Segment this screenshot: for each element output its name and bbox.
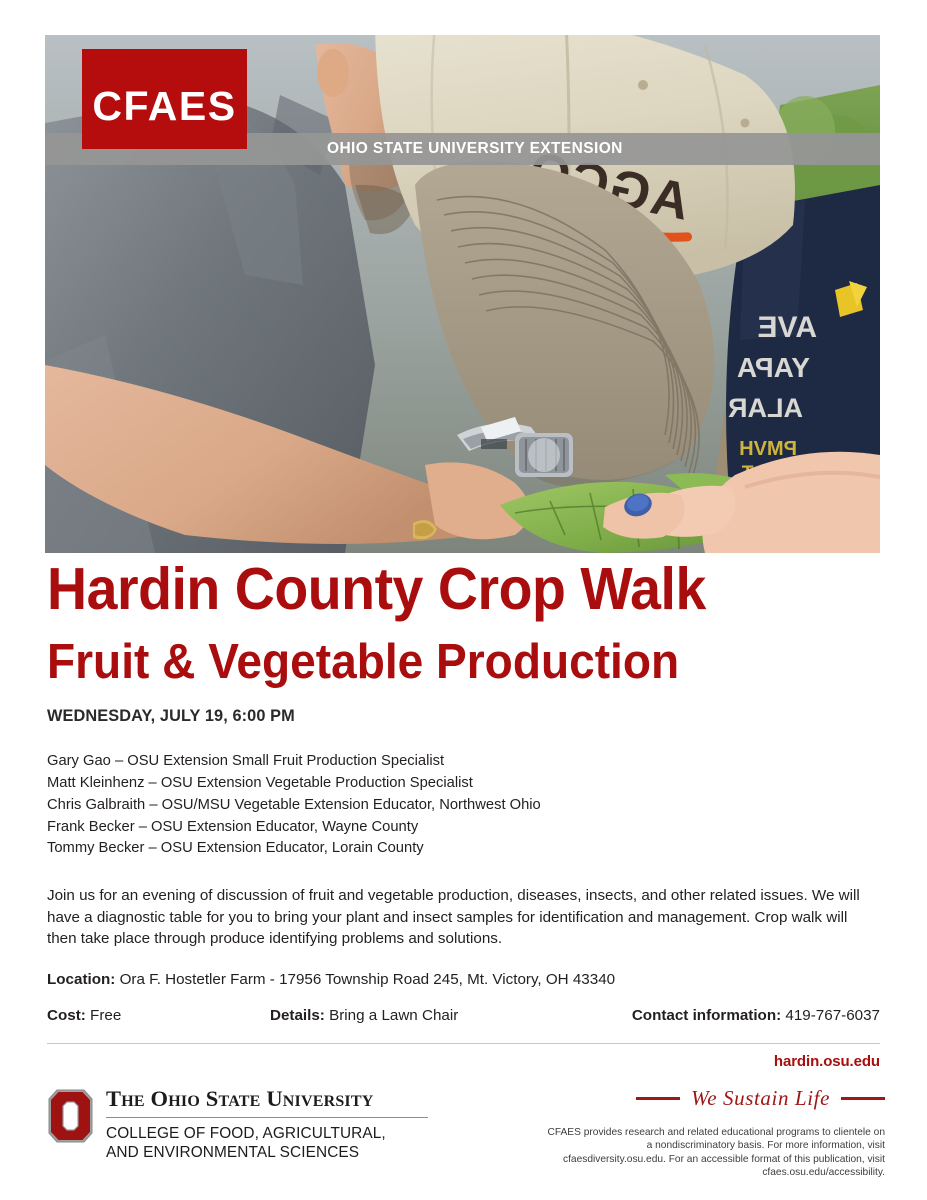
cost-field: Cost: Free — [47, 1007, 121, 1024]
cfaes-logo-text: CFAES — [92, 86, 236, 149]
cfaes-logo: CFAES — [82, 49, 247, 149]
contact-value: 419-767-6037 — [785, 1007, 880, 1024]
osu-wordmark: The Ohio State University COLLEGE OF FOO… — [106, 1086, 428, 1163]
tagline-rule-left — [636, 1097, 680, 1100]
list-item: Gary Gao – OSU Extension Small Fruit Pro… — [47, 750, 857, 772]
contact-label: Contact information: — [632, 1007, 781, 1024]
location-label: Location: — [47, 971, 115, 988]
svg-text:PMVH: PMVH — [739, 438, 797, 460]
details-value: Bring a Lawn Chair — [329, 1007, 458, 1024]
event-meta-row: Cost: Free Details: Bring a Lawn Chair C… — [47, 1007, 882, 1027]
poster-content: Hardin County Crop Walk Fruit & Vegetabl… — [47, 560, 882, 1027]
hero-photo: AVE YAPA ALAR PMVH HALT AGCO — [45, 35, 880, 553]
tagline-text: We Sustain Life — [691, 1086, 830, 1111]
details-field: Details: Bring a Lawn Chair — [270, 1007, 458, 1024]
osu-logo: The Ohio State University COLLEGE OF FOO… — [47, 1086, 428, 1163]
college-name: COLLEGE OF FOOD, AGRICULTURAL, AND ENVIR… — [106, 1124, 428, 1163]
disclaimer-text: CFAES provides research and related educ… — [545, 1126, 885, 1180]
list-item: Frank Becker – OSU Extension Educator, W… — [47, 816, 857, 838]
svg-text:ALAR: ALAR — [728, 393, 803, 423]
wordmark-rule — [106, 1117, 428, 1118]
page-title: Hardin County Crop Walk — [47, 560, 832, 619]
extension-banner-text: OHIO STATE UNIVERSITY EXTENSION — [327, 133, 623, 165]
location-value: Ora F. Hostetler Farm - 17956 Township R… — [120, 971, 616, 988]
svg-text:YAPA: YAPA — [737, 352, 810, 383]
university-name: The Ohio State University — [106, 1088, 428, 1111]
contact-field: Contact information: 419-767-6037 — [632, 1007, 880, 1024]
speaker-list: Gary Gao – OSU Extension Small Fruit Pro… — [47, 750, 882, 859]
college-line-2: AND ENVIRONMENTAL SCIENCES — [106, 1143, 428, 1163]
svg-text:AVE: AVE — [758, 311, 817, 344]
list-item: Matt Kleinhenz – OSU Extension Vegetable… — [47, 772, 857, 794]
list-item: Tommy Becker – OSU Extension Educator, L… — [47, 837, 857, 859]
cost-value: Free — [90, 1007, 121, 1024]
event-datetime: WEDNESDAY, JULY 19, 6:00 PM — [47, 706, 849, 726]
event-location: Location: Ora F. Hostetler Farm - 17956 … — [47, 971, 882, 988]
college-line-1: COLLEGE OF FOOD, AGRICULTURAL, — [106, 1124, 428, 1144]
website-link[interactable]: hardin.osu.edu — [774, 1053, 880, 1070]
event-description: Join us for an evening of discussion of … — [47, 885, 880, 950]
tagline-rule-right — [841, 1097, 885, 1100]
details-label: Details: — [270, 1007, 325, 1024]
list-item: Chris Galbraith – OSU/MSU Vegetable Exte… — [47, 794, 857, 816]
cost-label: Cost: — [47, 1007, 86, 1024]
tagline-block: We Sustain Life — [636, 1086, 885, 1111]
footer-divider — [47, 1043, 880, 1044]
block-o-icon — [47, 1088, 94, 1144]
page-subtitle: Fruit & Vegetable Production — [47, 637, 832, 688]
